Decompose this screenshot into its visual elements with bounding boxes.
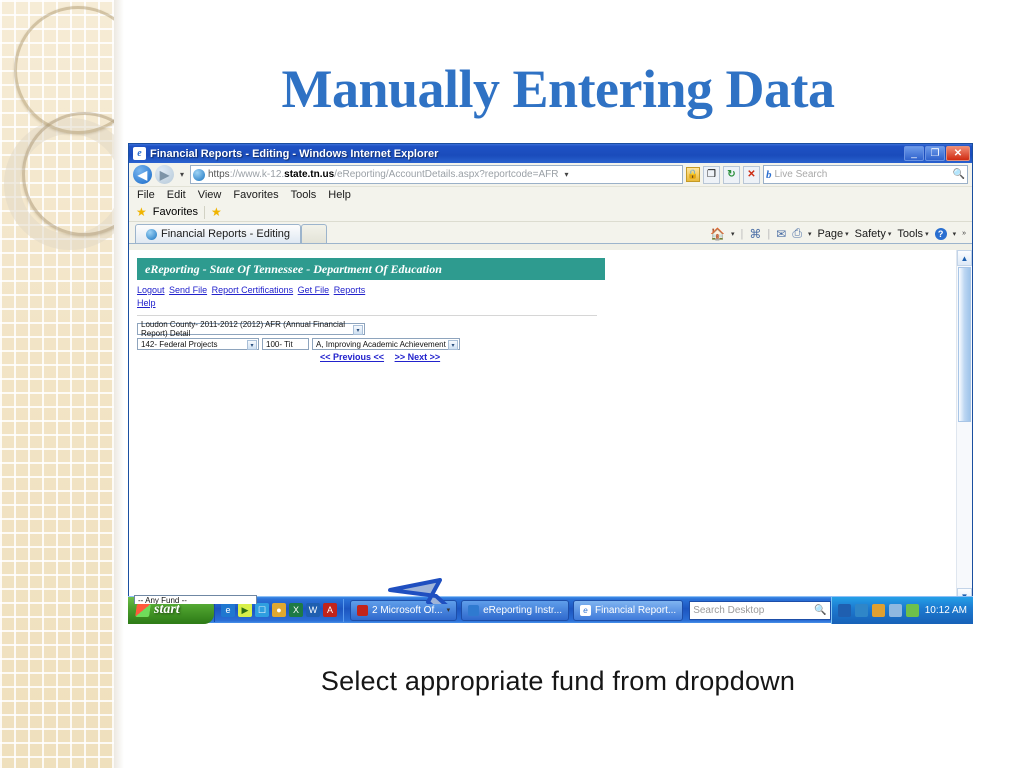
scroll-up-icon[interactable]: ▲: [957, 250, 972, 266]
help-icon[interactable]: ?: [935, 228, 947, 240]
shield-icon[interactable]: ●: [272, 603, 286, 617]
scrollbar-thumb[interactable]: [958, 267, 971, 422]
browser-window: e Financial Reports - Editing - Windows …: [128, 143, 973, 623]
back-button-icon[interactable]: ◀: [133, 165, 152, 184]
cmdbar-page-button[interactable]: Page ▾: [817, 228, 848, 240]
slide-caption: Select appropriate fund from dropdown: [128, 666, 988, 697]
cmdbar-divider-2: |: [767, 228, 770, 240]
web-page-content: eReporting - State Of Tennessee - Depart…: [129, 250, 956, 604]
previous-link[interactable]: << Previous <<: [320, 352, 384, 362]
tab-financial-reports[interactable]: Financial Reports - Editing: [135, 224, 301, 243]
slide-decoration-band: [0, 0, 114, 768]
pdf-icon[interactable]: A: [323, 603, 337, 617]
cmdbar-divider-1: |: [741, 228, 744, 240]
taskbar-item-label: eReporting Instr...: [483, 605, 562, 616]
tab-strip: Financial Reports - Editing 🏠 ▾ | ⌘ | ✉ …: [129, 222, 972, 244]
new-tab-button[interactable]: [301, 224, 327, 243]
menu-item-favorites[interactable]: Favorites: [233, 189, 278, 201]
taskbar-item-office[interactable]: 2 Microsoft Of... ▾: [350, 600, 457, 621]
cmdbar-tools-button[interactable]: Tools ▾: [897, 228, 928, 240]
signal-icon[interactable]: [906, 604, 919, 617]
live-search-logo-icon: b: [766, 169, 772, 181]
compatibility-view-icon[interactable]: ❐: [703, 166, 720, 184]
link-reports[interactable]: Reports: [334, 285, 366, 295]
media-icon[interactable]: ▶: [238, 603, 252, 617]
word-icon[interactable]: W: [306, 603, 320, 617]
menu-item-edit[interactable]: Edit: [167, 189, 186, 201]
close-button[interactable]: ✕: [946, 146, 970, 161]
report-select[interactable]: Loudon County- 2011-2012 (2012) AFR (Ann…: [137, 323, 365, 335]
band-edge-shadow: [114, 0, 124, 768]
security-icon[interactable]: [838, 604, 851, 617]
favorites-bar: ★ Favorites ★: [129, 203, 972, 222]
filter-select-row: 142- Federal Projects ▾ 100- Tit A, Impr…: [137, 338, 956, 350]
history-dropdown-icon[interactable]: ▾: [177, 170, 187, 179]
start-label: start: [154, 602, 180, 618]
fund-select-value: 142- Federal Projects: [141, 340, 217, 349]
search-input[interactable]: b Live Search 🔍: [763, 165, 968, 184]
tools-caret-icon: ▾: [925, 230, 929, 238]
menu-item-view[interactable]: View: [198, 189, 222, 201]
menu-item-tools[interactable]: Tools: [291, 189, 317, 201]
address-dropdown-icon[interactable]: ▾: [561, 170, 571, 179]
ie-logo-icon: e: [133, 147, 146, 160]
fund-dropdown-list[interactable]: -- Any Fund --141- General Purpose142- F…: [134, 595, 257, 604]
report-select-value: Loudon County- 2011-2012 (2012) AFR (Ann…: [141, 320, 364, 338]
link-report-certifications[interactable]: Report Certifications: [212, 285, 294, 295]
link-get-file[interactable]: Get File: [298, 285, 330, 295]
menu-item-file[interactable]: File: [137, 189, 155, 201]
ie-icon: e: [580, 605, 591, 616]
taskbar-clock[interactable]: 10:12 AM: [923, 605, 967, 616]
favorites-star-icon[interactable]: ★: [136, 205, 147, 219]
link-send-file[interactable]: Send File: [169, 285, 207, 295]
url-prefix: www.k-12.: [238, 169, 284, 180]
address-bar-row: ◀ ▶ ▾ https://www.k-12.state.tn.us/eRepo…: [129, 163, 972, 187]
print-caret-icon[interactable]: ▾: [808, 230, 812, 238]
forward-button-icon[interactable]: ▶: [155, 165, 174, 184]
home-caret-icon[interactable]: ▾: [731, 230, 735, 238]
address-input[interactable]: https://www.k-12.state.tn.us/eReporting/…: [190, 165, 683, 184]
taskbar-item-label: 2 Microsoft Of...: [372, 605, 443, 616]
maximize-button[interactable]: ❐: [925, 146, 945, 161]
url-separator: ://: [230, 169, 238, 180]
stop-icon[interactable]: ✕: [743, 166, 760, 184]
help-glyph: ?: [938, 229, 944, 239]
desktop-search-input[interactable]: Search Desktop 🔍: [689, 601, 831, 620]
program-select-value: A, Improving Academic Achievement: [316, 340, 446, 349]
link-help[interactable]: Help: [137, 298, 156, 308]
cmdbar-overflow-icon[interactable]: »: [962, 230, 966, 237]
window-title: Financial Reports - Editing - Windows In…: [150, 148, 438, 160]
search-placeholder: Live Search: [775, 169, 950, 180]
menu-bar: File Edit View Favorites Tools Help: [129, 187, 972, 203]
volume-icon[interactable]: [872, 604, 885, 617]
ie-icon[interactable]: e: [221, 603, 235, 617]
program-select[interactable]: A, Improving Academic Achievement ▾: [312, 338, 460, 350]
app-banner: eReporting - State Of Tennessee - Depart…: [137, 258, 605, 280]
chevron-down-icon: ▾: [448, 340, 458, 350]
app-divider: [137, 315, 597, 316]
tab-label: Financial Reports - Editing: [161, 228, 290, 240]
desktop-search-placeholder: Search Desktop: [693, 605, 764, 616]
cmdbar-safety-label: Safety: [855, 228, 886, 240]
feeds-icon[interactable]: ⌘: [749, 227, 761, 241]
url-path: /eReporting/AccountDetails.aspx?reportco…: [334, 169, 558, 180]
home-icon[interactable]: 🏠: [710, 227, 725, 241]
command-bar: 🏠 ▾ | ⌘ | ✉ ⎙ ▾ Page ▾ Safety ▾ Tools ▾ …: [710, 226, 966, 241]
refresh-icon[interactable]: ↻: [723, 166, 740, 184]
window-titlebar: e Financial Reports - Editing - Windows …: [129, 144, 972, 163]
system-tray: 10:12 AM: [831, 597, 973, 624]
pagination-links: << Previous << >> Next >>: [320, 352, 956, 362]
cmdbar-page-label: Page: [817, 228, 843, 240]
favbar-divider: [204, 206, 205, 219]
network-icon[interactable]: [855, 604, 868, 617]
chevron-down-icon: ▾: [247, 340, 257, 350]
windows-flag-icon: [135, 604, 151, 617]
page-globe-icon: [193, 169, 205, 181]
taskbar-buttons: 2 Microsoft Of... ▾ eReporting Instr... …: [344, 600, 683, 621]
favorites-label[interactable]: Favorites: [153, 206, 198, 218]
word-icon: [468, 605, 479, 616]
next-link[interactable]: >> Next >>: [395, 352, 441, 362]
cmdbar-tools-label: Tools: [897, 228, 923, 240]
vertical-scrollbar[interactable]: ▲ ▼: [956, 250, 972, 604]
taskbar-group-caret-icon: ▾: [447, 606, 451, 614]
fund-select[interactable]: 142- Federal Projects ▾: [137, 338, 259, 350]
tab-favicon-icon: [146, 229, 157, 240]
safety-caret-icon: ▾: [888, 230, 892, 238]
ssl-lock-icon[interactable]: 🔒: [686, 167, 700, 182]
mail-icon[interactable]: ✉: [776, 227, 786, 241]
taskbar-item-label: Financial Report...: [595, 605, 676, 616]
page-viewport: eReporting - State Of Tennessee - Depart…: [129, 250, 972, 604]
print-icon[interactable]: ⎙: [792, 226, 802, 241]
link-logout[interactable]: Logout: [137, 285, 165, 295]
menu-item-help[interactable]: Help: [328, 189, 351, 201]
desktop-search-icon[interactable]: 🔍: [814, 605, 826, 616]
cmdbar-safety-button[interactable]: Safety ▾: [855, 228, 892, 240]
chevron-down-icon: ▾: [353, 325, 363, 335]
app-nav-links: Logout Send File Report Certifications G…: [137, 284, 605, 310]
url-protocol: https: [208, 169, 230, 180]
subfund-select-value: 100- Tit: [266, 340, 293, 349]
url-host: state.tn.us: [284, 169, 334, 180]
help-caret-icon[interactable]: ▾: [953, 230, 957, 238]
minimize-button[interactable]: _: [904, 146, 924, 161]
page-title: Manually Entering Data: [128, 58, 988, 120]
excel-icon[interactable]: X: [289, 603, 303, 617]
address-text: https://www.k-12.state.tn.us/eReporting/…: [208, 169, 558, 180]
folder-icon[interactable]: ☐: [255, 603, 269, 617]
office-group-icon: [357, 605, 368, 616]
search-go-icon[interactable]: 🔍: [953, 169, 965, 180]
taskbar-item-financial-report[interactable]: e Financial Report...: [573, 600, 683, 621]
taskbar-item-ereporting[interactable]: eReporting Instr...: [461, 600, 569, 621]
display-icon[interactable]: [889, 604, 902, 617]
fund-option[interactable]: -- Any Fund --: [135, 596, 256, 604]
page-caret-icon: ▾: [845, 230, 849, 238]
add-favorite-star-icon[interactable]: ★: [211, 205, 222, 219]
subfund-select[interactable]: 100- Tit: [262, 338, 309, 350]
